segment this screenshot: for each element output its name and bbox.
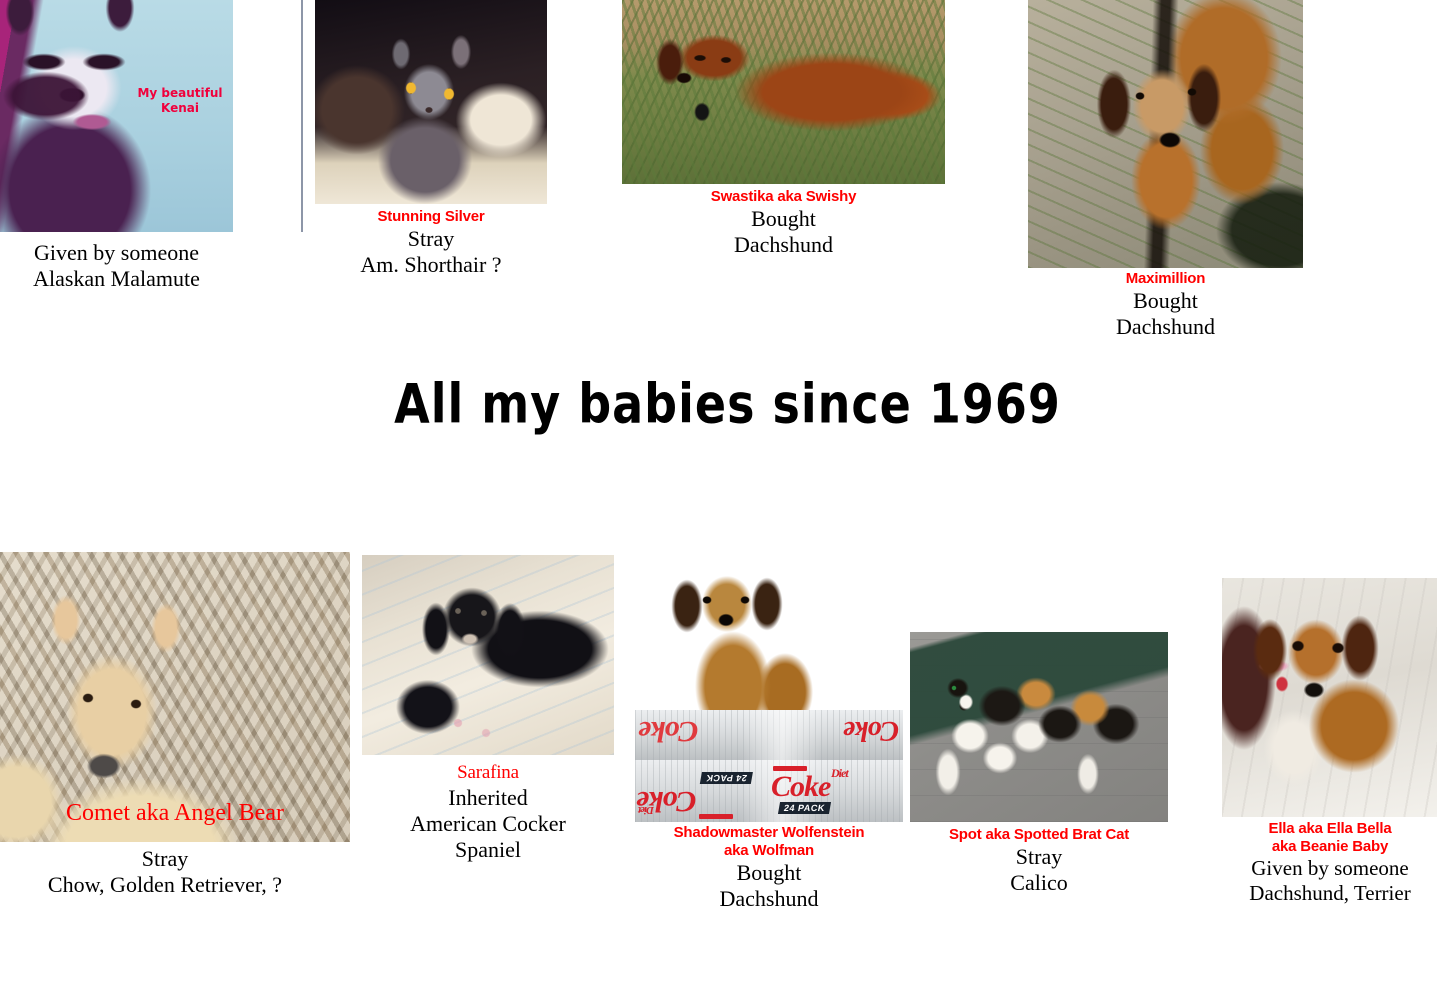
pet-breed-silver: Am. Shorthair ? xyxy=(305,252,557,278)
pet-photo-swishy xyxy=(622,0,945,184)
pet-origin-sarafina: Inherited xyxy=(362,785,614,811)
pet-name-maximillion: Maximillion xyxy=(1028,270,1303,288)
pet-origin-silver: Stray xyxy=(305,226,557,252)
photo-overlay-caption-kenai: My beautiful Kenai xyxy=(130,86,230,116)
coke-logo-upper-right: Coke xyxy=(844,714,899,746)
maximillion-photo-scene xyxy=(1028,0,1303,268)
pet-breed-sarafina-line2: Spaniel xyxy=(362,837,614,863)
pet-name-wolfman-line1: Shadowmaster Wolfenstein xyxy=(630,824,908,842)
pet-origin-kenai: Given by someone xyxy=(0,240,233,266)
pet-photo-ella xyxy=(1222,578,1437,817)
pet-caption-swishy: Swastika aka Swishy Bought Dachshund xyxy=(612,188,955,258)
pet-photo-maximillion xyxy=(1028,0,1303,268)
page-title: All my babies since 1969 xyxy=(0,372,1455,436)
pet-breed-sarafina-line1: American Cocker xyxy=(362,811,614,837)
pet-photo-silver xyxy=(315,0,547,204)
pet-name-swishy: Swastika aka Swishy xyxy=(612,188,955,206)
sarafina-photo-scene xyxy=(362,555,614,755)
coke-logo-lower-right: Coke xyxy=(771,770,830,804)
pet-breed-swishy: Dachshund xyxy=(612,232,955,258)
pet-caption-wolfman: Shadowmaster Wolfenstein aka Wolfman Bou… xyxy=(630,824,908,912)
pet-name-silver: Stunning Silver xyxy=(305,208,557,226)
pet-origin-wolfman: Bought xyxy=(630,860,908,886)
pet-caption-spot: Spot aka Spotted Brat Cat Stray Calico xyxy=(905,826,1173,896)
pet-breed-ella: Dachshund, Terrier xyxy=(1214,881,1446,906)
pet-origin-ella: Given by someone xyxy=(1214,856,1446,881)
pet-name-ella-line1: Ella aka Ella Bella xyxy=(1214,820,1446,838)
comet-photo-scene xyxy=(0,552,350,842)
silver-photo-scene xyxy=(315,0,547,204)
pack-24-label-upper: 24 PACK xyxy=(700,772,753,784)
pet-caption-silver: Stunning Silver Stray Am. Shorthair ? xyxy=(305,208,557,278)
pet-photo-sarafina xyxy=(362,555,614,755)
pet-breed-maximillion: Dachshund xyxy=(1028,314,1303,340)
pet-photo-kenai: My beautiful Kenai xyxy=(0,0,233,232)
coke-red-bar-left xyxy=(699,814,733,819)
pet-photo-wolfman: Coke Coke Coke Diet 24 PACK Coke Diet 24… xyxy=(635,560,903,822)
pet-origin-comet: Stray xyxy=(0,846,330,872)
pet-name-sarafina: Sarafina xyxy=(362,762,614,785)
pet-origin-swishy: Bought xyxy=(612,206,955,232)
pack-24-label-lower: 24 PACK xyxy=(778,802,831,814)
coke-logo-upper-left: Coke xyxy=(639,714,698,748)
coke-carton-upper: Coke Coke xyxy=(635,710,903,760)
kenai-photo-scene xyxy=(0,0,233,232)
pet-breed-wolfman: Dachshund xyxy=(630,886,908,912)
coke-carton-lower: Coke Diet 24 PACK Coke Diet 24 PACK xyxy=(635,760,903,822)
pet-caption-kenai: Given by someone Alaskan Malamute xyxy=(0,240,233,292)
pet-name-spot: Spot aka Spotted Brat Cat xyxy=(905,826,1173,844)
pet-origin-spot: Stray xyxy=(905,844,1173,870)
vertical-divider-1 xyxy=(301,0,303,232)
photo-overlay-caption-comet: Comet aka Angel Bear xyxy=(0,800,350,827)
coke-diet-word-left: Diet xyxy=(639,804,654,816)
pet-name-ella-line2: aka Beanie Baby xyxy=(1214,838,1446,856)
coke-diet-word-right: Diet xyxy=(831,766,848,781)
pet-name-wolfman-line2: aka Wolfman xyxy=(630,842,908,860)
pet-caption-sarafina: Sarafina Inherited American Cocker Spani… xyxy=(362,762,614,863)
pet-photo-comet: Comet aka Angel Bear xyxy=(0,552,350,842)
pet-breed-comet: Chow, Golden Retriever, ? xyxy=(0,872,330,898)
pet-breed-kenai: Alaskan Malamute xyxy=(0,266,233,292)
pet-caption-comet: Stray Chow, Golden Retriever, ? xyxy=(0,846,330,898)
ella-photo-scene xyxy=(1222,578,1437,817)
pet-caption-maximillion: Maximillion Bought Dachshund xyxy=(1028,270,1303,340)
pet-origin-maximillion: Bought xyxy=(1028,288,1303,314)
spot-photo-scene xyxy=(910,632,1168,822)
pet-breed-spot: Calico xyxy=(905,870,1173,896)
pet-photo-spot xyxy=(910,632,1168,822)
pet-caption-ella: Ella aka Ella Bella aka Beanie Baby Give… xyxy=(1214,820,1446,906)
swishy-photo-scene xyxy=(622,0,945,184)
